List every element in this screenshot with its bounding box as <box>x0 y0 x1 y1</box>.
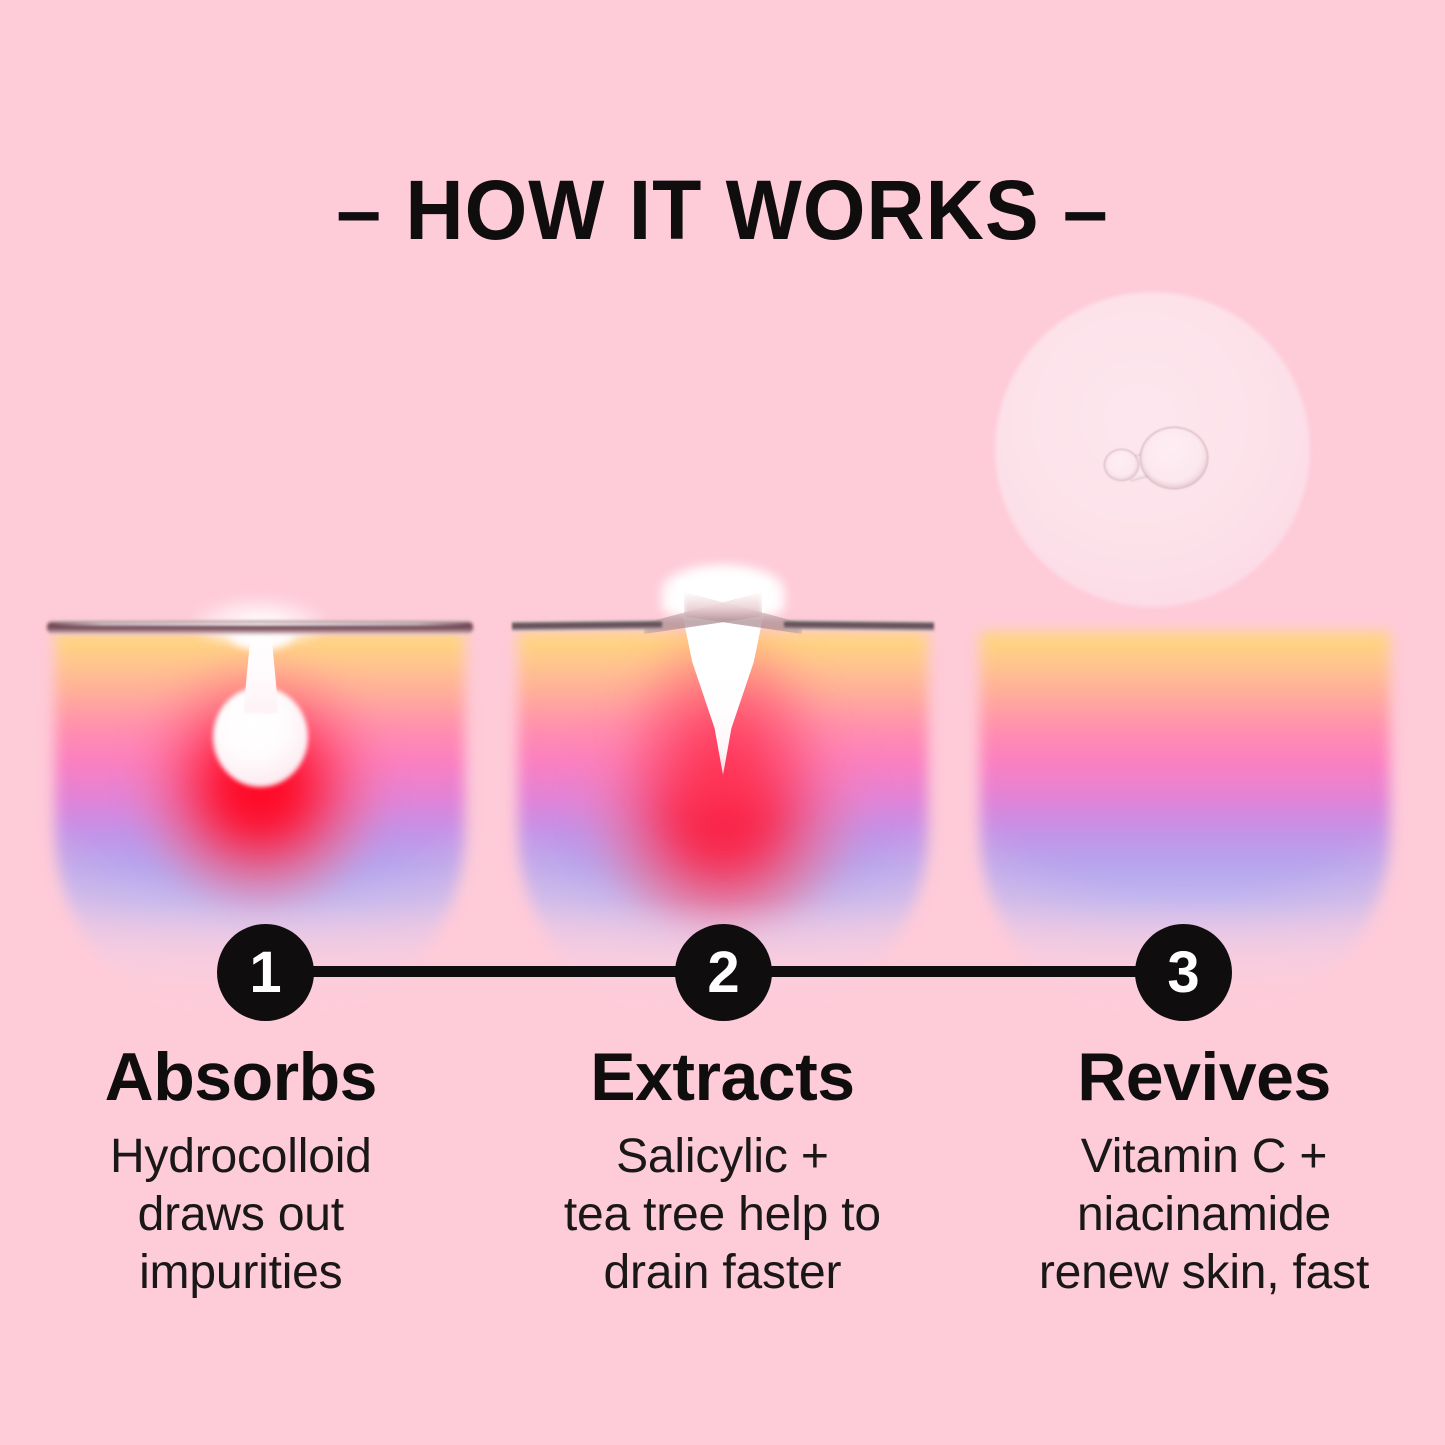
step-body-extracts: Salicylic + tea tree help to drain faste… <box>496 1128 950 1302</box>
step-column-1: Absorbs Hydrocolloid draws out impuritie… <box>0 1040 482 1302</box>
step-copy-row: Absorbs Hydrocolloid draws out impuritie… <box>0 1040 1445 1302</box>
step-body-absorbs: Hydrocolloid draws out impurities <box>14 1128 468 1302</box>
step-heading-revives: Revives <box>977 1040 1431 1114</box>
step-number-2: 2 <box>675 924 772 1021</box>
step-column-3: Revives Vitamin C + niacinamide renew sk… <box>963 1040 1445 1302</box>
absorbs-illustration <box>25 280 495 880</box>
step-heading-absorbs: Absorbs <box>14 1040 468 1114</box>
extracts-illustration <box>488 280 958 880</box>
step-number-1: 1 <box>217 924 314 1021</box>
impurity-blob-large <box>1141 428 1207 488</box>
how-it-works-infographic: – HOW IT WORKS – <box>0 0 1445 1445</box>
step-heading-extracts: Extracts <box>496 1040 950 1114</box>
step-timeline: 1 2 3 <box>0 924 1445 1024</box>
illustration-stage <box>0 0 1445 900</box>
step-number-3: 3 <box>1135 924 1232 1021</box>
pus-droplet-icon <box>213 632 308 787</box>
patch-wing-right <box>784 619 934 632</box>
impurity-blob-small <box>1105 450 1138 480</box>
step-body-revives: Vitamin C + niacinamide renew skin, fast <box>977 1128 1431 1302</box>
step-column-2: Extracts Salicylic + tea tree help to dr… <box>482 1040 964 1302</box>
patch-highlight <box>53 622 467 626</box>
extracted-impurities-icon <box>1105 428 1207 488</box>
patch-wing-left <box>512 619 662 632</box>
hydrocolloid-patch-tented-icon <box>498 580 948 660</box>
